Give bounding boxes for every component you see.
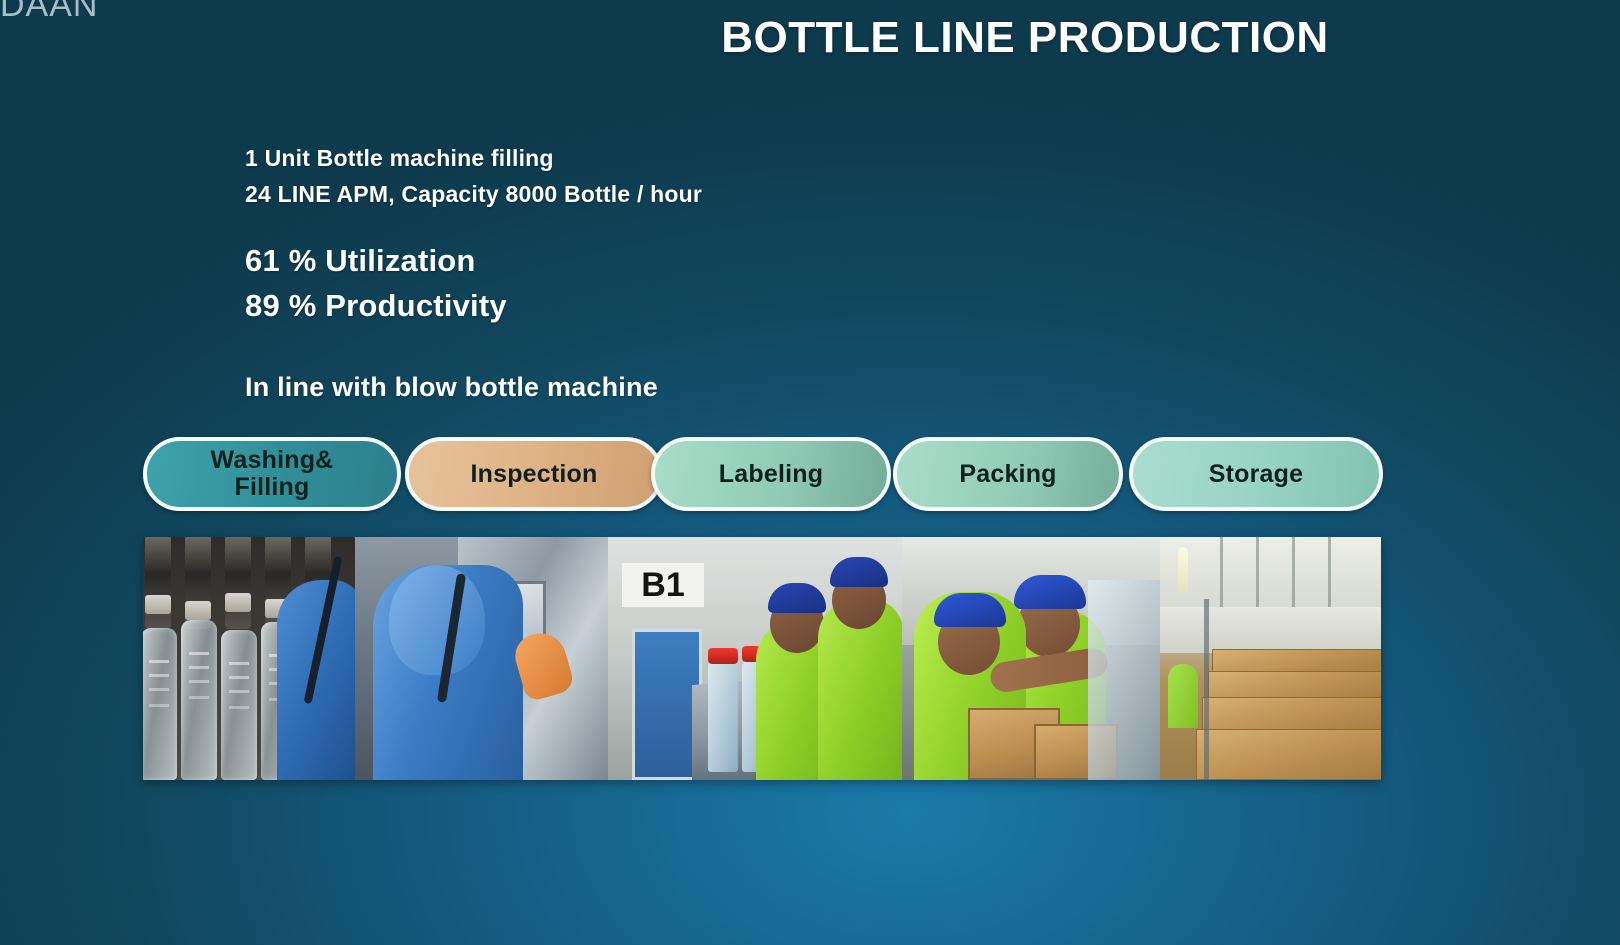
- corner-wordmark: DAAN: [0, 0, 98, 25]
- process-step-label-line-2: Filling: [234, 473, 309, 501]
- process-step-labeling[interactable]: Labeling: [651, 437, 891, 511]
- inline-note: In line with blow bottle machine: [245, 369, 702, 405]
- photo-sign-b1: B1: [622, 563, 704, 607]
- metric-productivity: 89 % Productivity: [245, 283, 702, 328]
- process-step-label: Packing: [959, 461, 1056, 488]
- photo-inspection-line: B1: [608, 537, 902, 780]
- process-step-packing[interactable]: Packing: [893, 437, 1123, 511]
- page-title: BOTTLE LINE PRODUCTION: [660, 13, 1390, 63]
- process-step-label: Labeling: [719, 461, 823, 488]
- photo-warehouse-storage: [1160, 537, 1381, 780]
- process-flow: Washing& Filling Inspection Labeling Pac…: [143, 437, 1383, 511]
- process-step-label: Washing& Filling: [211, 447, 334, 501]
- metric-utilization: 61 % Utilization: [245, 238, 702, 283]
- photo-strip: B1: [143, 537, 1381, 780]
- process-step-label-line-1: Washing&: [211, 446, 334, 474]
- process-step-label: Inspection: [470, 461, 597, 488]
- process-step-inspection[interactable]: Inspection: [405, 437, 663, 511]
- process-step-label: Storage: [1209, 461, 1303, 488]
- process-step-storage[interactable]: Storage: [1129, 437, 1383, 511]
- spec-line-1: 1 Unit Bottle machine filling: [245, 140, 702, 176]
- body-copy-block: 1 Unit Bottle machine filling 24 LINE AP…: [245, 140, 702, 405]
- photo-bottle-filling-machine: [143, 537, 355, 780]
- slide-canvas: DAAN BOTTLE LINE PRODUCTION 1 Unit Bottl…: [0, 0, 1620, 945]
- photo-cleanroom-worker: [355, 537, 608, 780]
- photo-packing-station: [902, 537, 1160, 780]
- process-step-washing-filling[interactable]: Washing& Filling: [143, 437, 401, 511]
- spec-line-2: 24 LINE APM, Capacity 8000 Bottle / hour: [245, 176, 702, 212]
- spacer-2: [245, 328, 702, 369]
- spacer-1: [245, 212, 702, 238]
